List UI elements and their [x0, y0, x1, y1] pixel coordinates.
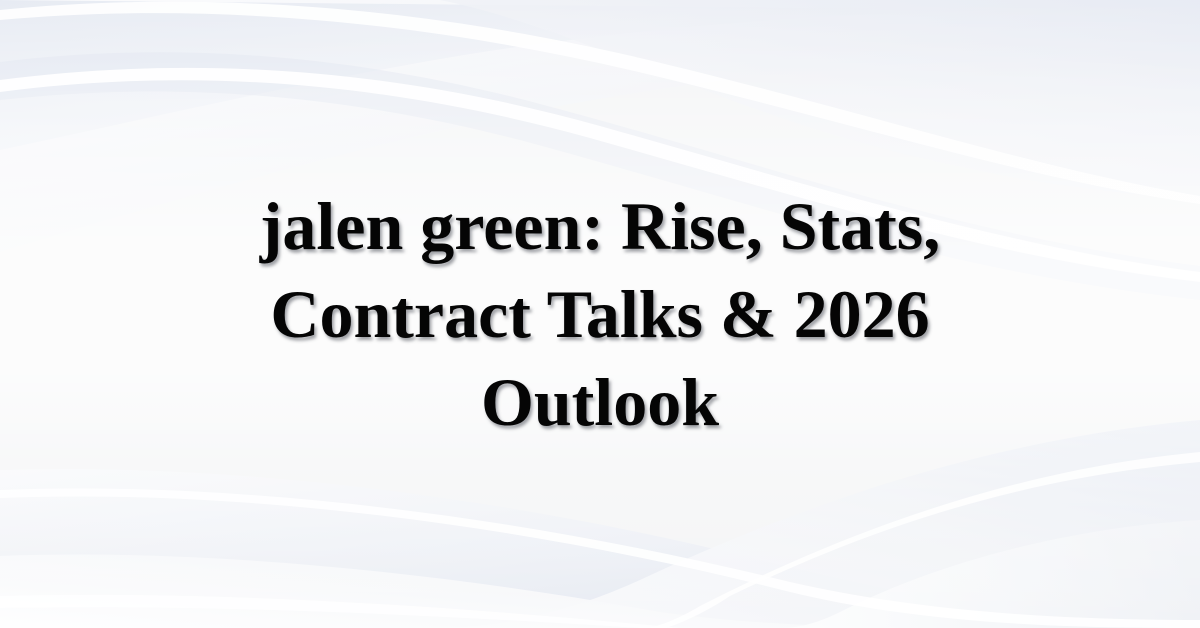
- title-card: jalen green: Rise, Stats, Contract Talks…: [0, 0, 1200, 628]
- title-container: jalen green: Rise, Stats, Contract Talks…: [0, 0, 1200, 628]
- page-title: jalen green: Rise, Stats, Contract Talks…: [210, 182, 990, 446]
